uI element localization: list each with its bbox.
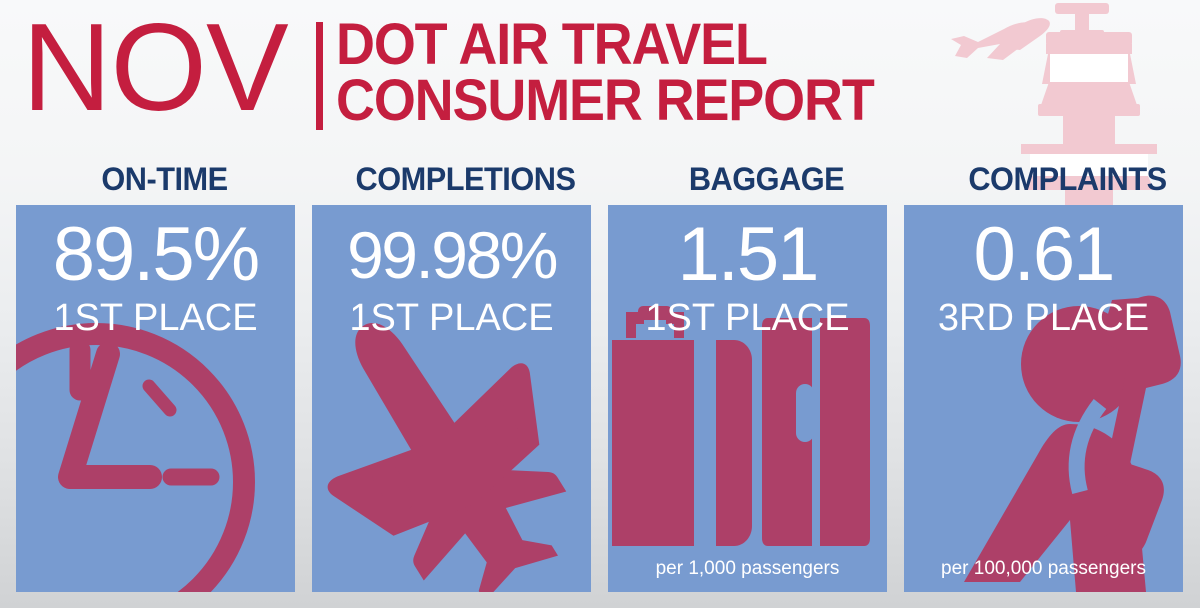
stat-value: 99.98% bbox=[312, 213, 591, 297]
column-header-complaints: COMPLAINTS bbox=[925, 160, 1200, 202]
title-line-1: DOT AIR TRAVEL bbox=[336, 17, 874, 73]
title-divider bbox=[316, 22, 323, 130]
stat-value: 89.5% bbox=[16, 213, 295, 297]
stat-card-complaints: 0.61 3RD PLACE per 100,000 passengers bbox=[904, 205, 1183, 592]
column-headers: ON-TIME COMPLETIONS BAGGAGE COMPLAINTS bbox=[0, 160, 1200, 202]
page-title: DOT AIR TRAVEL CONSUMER REPORT bbox=[336, 17, 874, 129]
stat-text-complaints: 0.61 3RD PLACE bbox=[904, 205, 1183, 339]
stat-place: 1ST PLACE bbox=[608, 297, 887, 339]
title-line-2: CONSUMER REPORT bbox=[336, 73, 874, 129]
column-header-baggage: BAGGAGE bbox=[624, 160, 909, 202]
stat-note-baggage: per 1,000 passengers bbox=[608, 558, 887, 580]
stat-card-row: 89.5% 1ST PLACE 99.98% 1ST PLACE bbox=[16, 205, 1184, 592]
column-header-completions: COMPLETIONS bbox=[323, 160, 608, 202]
stat-value: 0.61 bbox=[904, 213, 1183, 297]
stat-card-completions: 99.98% 1ST PLACE bbox=[312, 205, 591, 592]
stat-place: 1ST PLACE bbox=[16, 297, 295, 339]
stat-text-baggage: 1.51 1ST PLACE bbox=[608, 205, 887, 339]
stat-note-complaints: per 100,000 passengers bbox=[904, 558, 1183, 580]
stat-place: 1ST PLACE bbox=[312, 297, 591, 339]
stat-place: 3RD PLACE bbox=[904, 297, 1183, 339]
stat-text-on-time: 89.5% 1ST PLACE bbox=[16, 205, 295, 339]
stat-text-completions: 99.98% 1ST PLACE bbox=[312, 205, 591, 339]
stat-card-on-time: 89.5% 1ST PLACE bbox=[16, 205, 295, 592]
stat-card-baggage: 1.51 1ST PLACE per 1,000 passengers bbox=[608, 205, 887, 592]
month-label: NOV bbox=[22, 6, 288, 130]
stat-value: 1.51 bbox=[608, 213, 887, 297]
column-header-on-time: ON-TIME bbox=[22, 160, 307, 202]
report-header: NOV DOT AIR TRAVEL CONSUMER REPORT bbox=[0, 0, 1200, 150]
